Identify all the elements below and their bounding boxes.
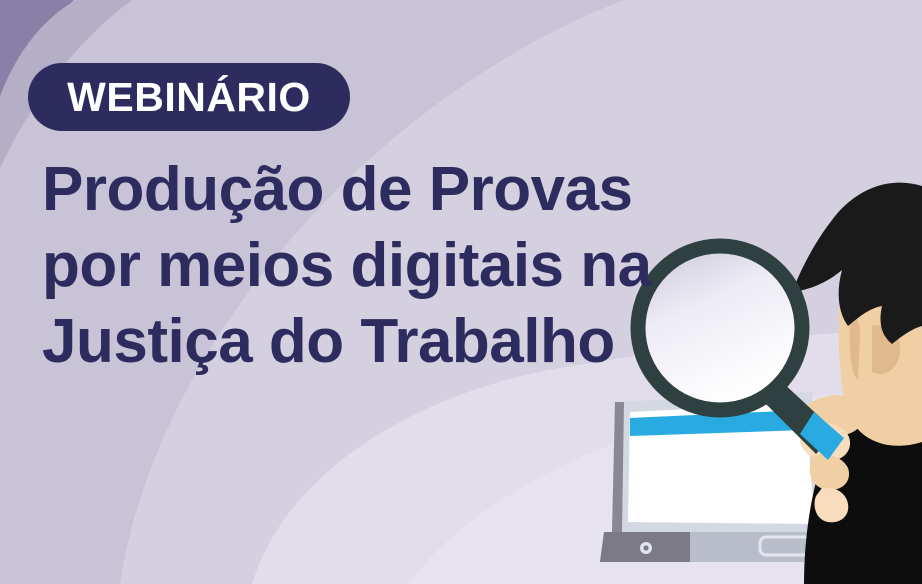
laptop-base — [600, 532, 836, 562]
title-line-1: Produção de Provas — [42, 152, 842, 228]
webinar-banner: WEBINÁRIO Produção de Provas por meios d… — [0, 0, 922, 584]
title-line-3: Justiça do Trabalho — [42, 304, 842, 380]
webinar-badge-label: WEBINÁRIO — [67, 77, 311, 118]
title-line-2: por meios digitais na — [42, 228, 842, 304]
webinar-badge: WEBINÁRIO — [28, 63, 350, 131]
page-title: Produção de Provas por meios digitais na… — [42, 152, 842, 380]
